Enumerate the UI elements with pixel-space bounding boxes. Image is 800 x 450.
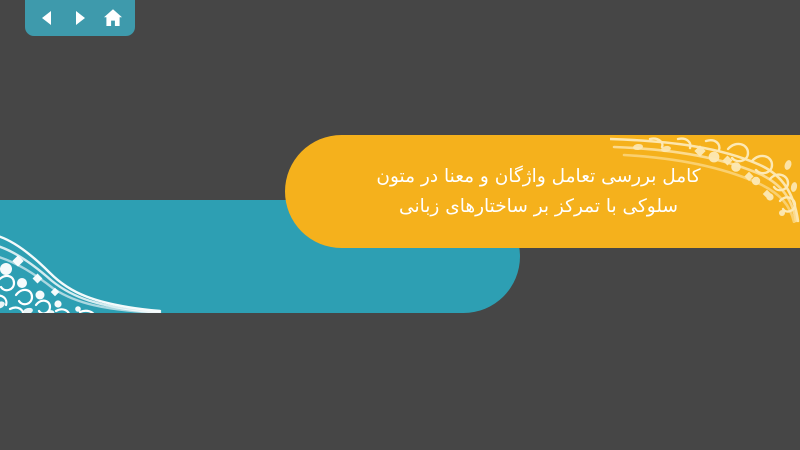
home-button[interactable] [100, 5, 126, 31]
navigation-bar [25, 0, 135, 36]
orange-title-band [285, 135, 800, 248]
right-triangle-icon [70, 8, 90, 28]
home-icon [102, 7, 124, 29]
arabesque-corner-ornament-teal [0, 221, 162, 313]
slide-canvas: کامل بررسی تعامل واژگان و معنا در متون س… [0, 0, 800, 450]
next-button[interactable] [67, 5, 93, 31]
arabesque-corner-ornament-orange [610, 135, 800, 223]
left-triangle-icon [37, 8, 57, 28]
previous-button[interactable] [34, 5, 60, 31]
